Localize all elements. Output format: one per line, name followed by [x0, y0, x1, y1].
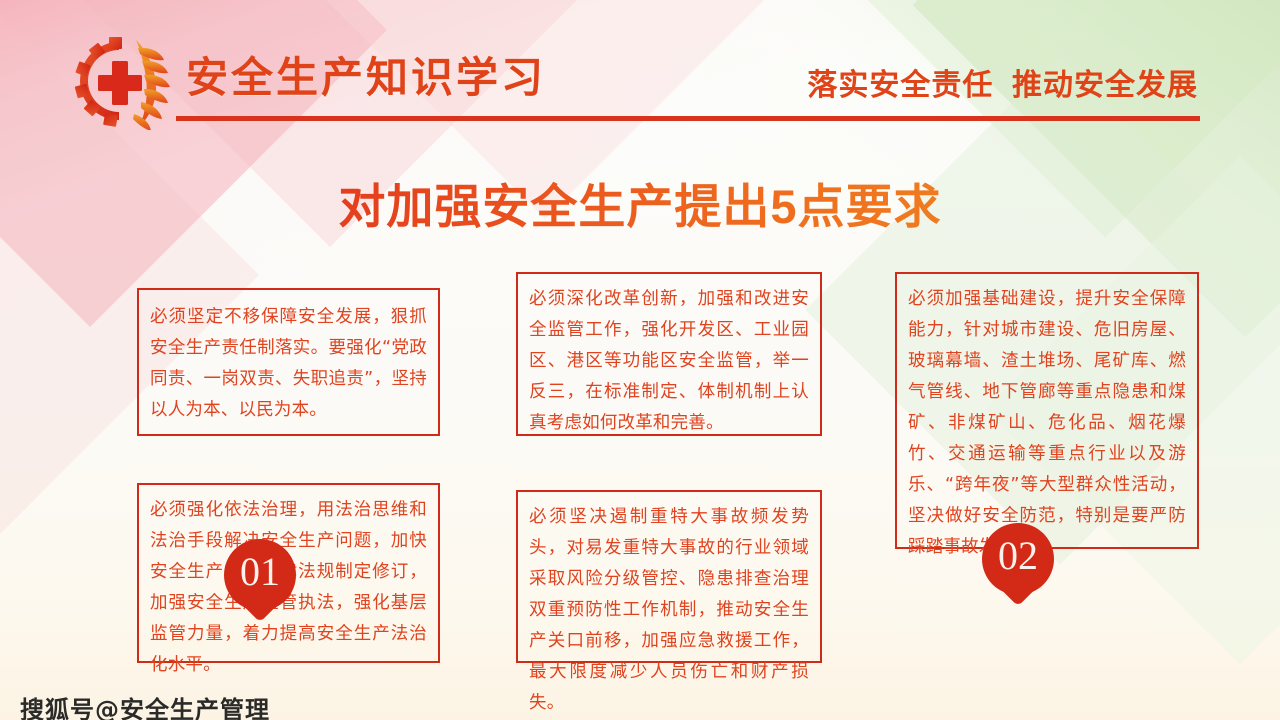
brand-title: 安全生产知识学习 [186, 44, 546, 105]
requirement-text-04: 必须坚决遏制重特大事故频发势头，对易发重特大事故的行业领域采取风险分级管控、隐患… [518, 492, 820, 719]
requirement-card-01: 01 必须坚定不移保障安全发展，狠抓安全生产责任制落实。要强化“党政同责、一岗双… [137, 288, 440, 436]
pin-number-01: 01 [224, 550, 296, 594]
footer-watermark: 搜狐号@安全生产管理 [20, 690, 270, 720]
requirement-text-05: 必须加强基础建设，提升安全保障能力，针对城市建设、危旧房屋、玻璃幕墙、渣土堆场、… [897, 274, 1197, 563]
header-slogan: 落实安全责任 推动安全发展 [807, 60, 1198, 104]
header-divider-rule [176, 116, 1200, 121]
pin-badge-02: 02 [982, 523, 1054, 595]
requirement-card-02: 02 必须深化改革创新，加强和改进安全监管工作，强化开发区、工业园区、港区等功能… [516, 272, 822, 436]
requirement-text-02: 必须深化改革创新，加强和改进安全监管工作，强化开发区、工业园区、港区等功能区安全… [518, 274, 820, 439]
requirement-card-04: 04 必须坚决遏制重特大事故频发势头，对易发重特大事故的行业领域采取风险分级管控… [516, 490, 822, 663]
header: 安全生产知识学习 落实安全责任 推动安全发展 [0, 0, 1280, 130]
page-title: 对加强安全生产提出5点要求 [0, 168, 1280, 237]
requirement-card-05: 05 必须加强基础建设，提升安全保障能力，针对城市建设、危旧房屋、玻璃幕墙、渣土… [895, 272, 1199, 549]
pin-badge-01: 01 [224, 539, 296, 611]
requirement-text-01: 必须坚定不移保障安全发展，狠抓安全生产责任制落实。要强化“党政同责、一岗双责、失… [139, 290, 438, 426]
pin-number-02: 02 [982, 534, 1054, 578]
slide-canvas: 安全生产知识学习 落实安全责任 推动安全发展 对加强安全生产提出5点要求 01 … [0, 0, 1280, 720]
safety-cross-gear-wheat-emblem [74, 36, 178, 130]
